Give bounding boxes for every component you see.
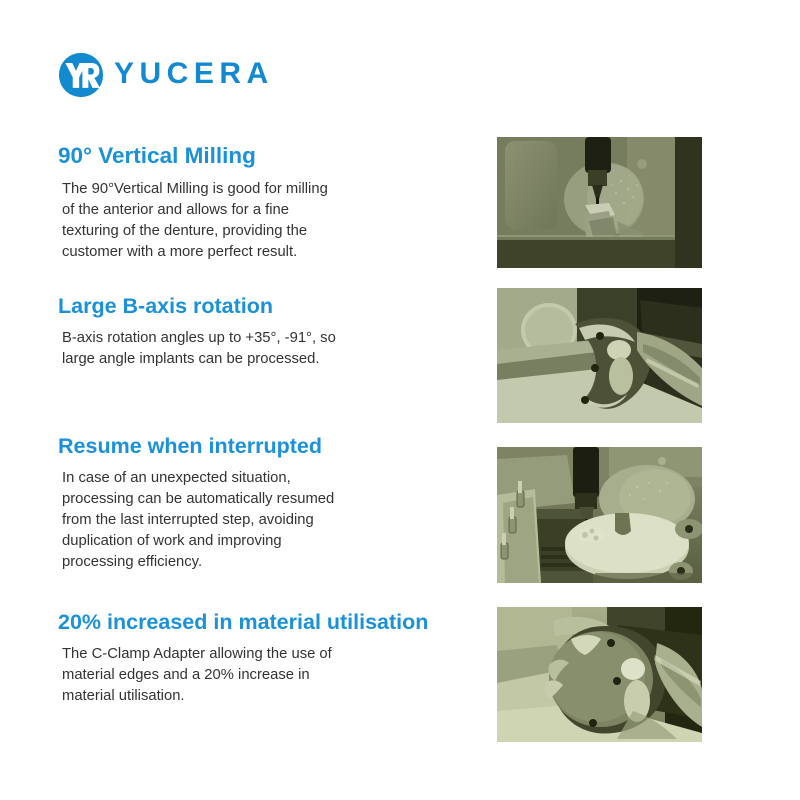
feature-description: In case of an unexpected situation, proc… bbox=[62, 468, 334, 573]
feature-title: Resume when interrupted bbox=[58, 434, 334, 459]
feature-photo-resume-when-interrupted bbox=[497, 447, 702, 583]
feature-photo-b-axis-rotation bbox=[497, 288, 702, 423]
feature-description: The C-Clamp Adapter allowing the use of … bbox=[62, 644, 428, 707]
feature-block-material-utilisation: 20% increased in material utilisation Th… bbox=[58, 610, 428, 707]
feature-title: 20% increased in material utilisation bbox=[58, 610, 428, 635]
feature-description: The 90°Vertical Milling is good for mill… bbox=[62, 179, 328, 263]
brand-logo: YUCERA bbox=[58, 52, 274, 98]
yucera-yr-monogram-icon bbox=[58, 52, 104, 98]
feature-block-resume-when-interrupted: Resume when interrupted In case of an un… bbox=[58, 434, 334, 573]
feature-block-vertical-milling: 90° Vertical Milling The 90°Vertical Mil… bbox=[58, 143, 328, 263]
feature-title: 90° Vertical Milling bbox=[58, 143, 328, 170]
brand-wordmark: YUCERA bbox=[114, 59, 274, 91]
feature-block-b-axis-rotation: Large B-axis rotation B-axis rotation an… bbox=[58, 294, 336, 370]
feature-sheet-page: YUCERA 90° Vertical Milling The 90°Verti… bbox=[0, 0, 800, 800]
feature-title: Large B-axis rotation bbox=[58, 294, 336, 319]
feature-photo-c-clamp-adapter bbox=[497, 607, 702, 742]
feature-photo-vertical-milling bbox=[497, 137, 702, 268]
feature-description: B-axis rotation angles up to +35°, -91°,… bbox=[62, 328, 336, 370]
